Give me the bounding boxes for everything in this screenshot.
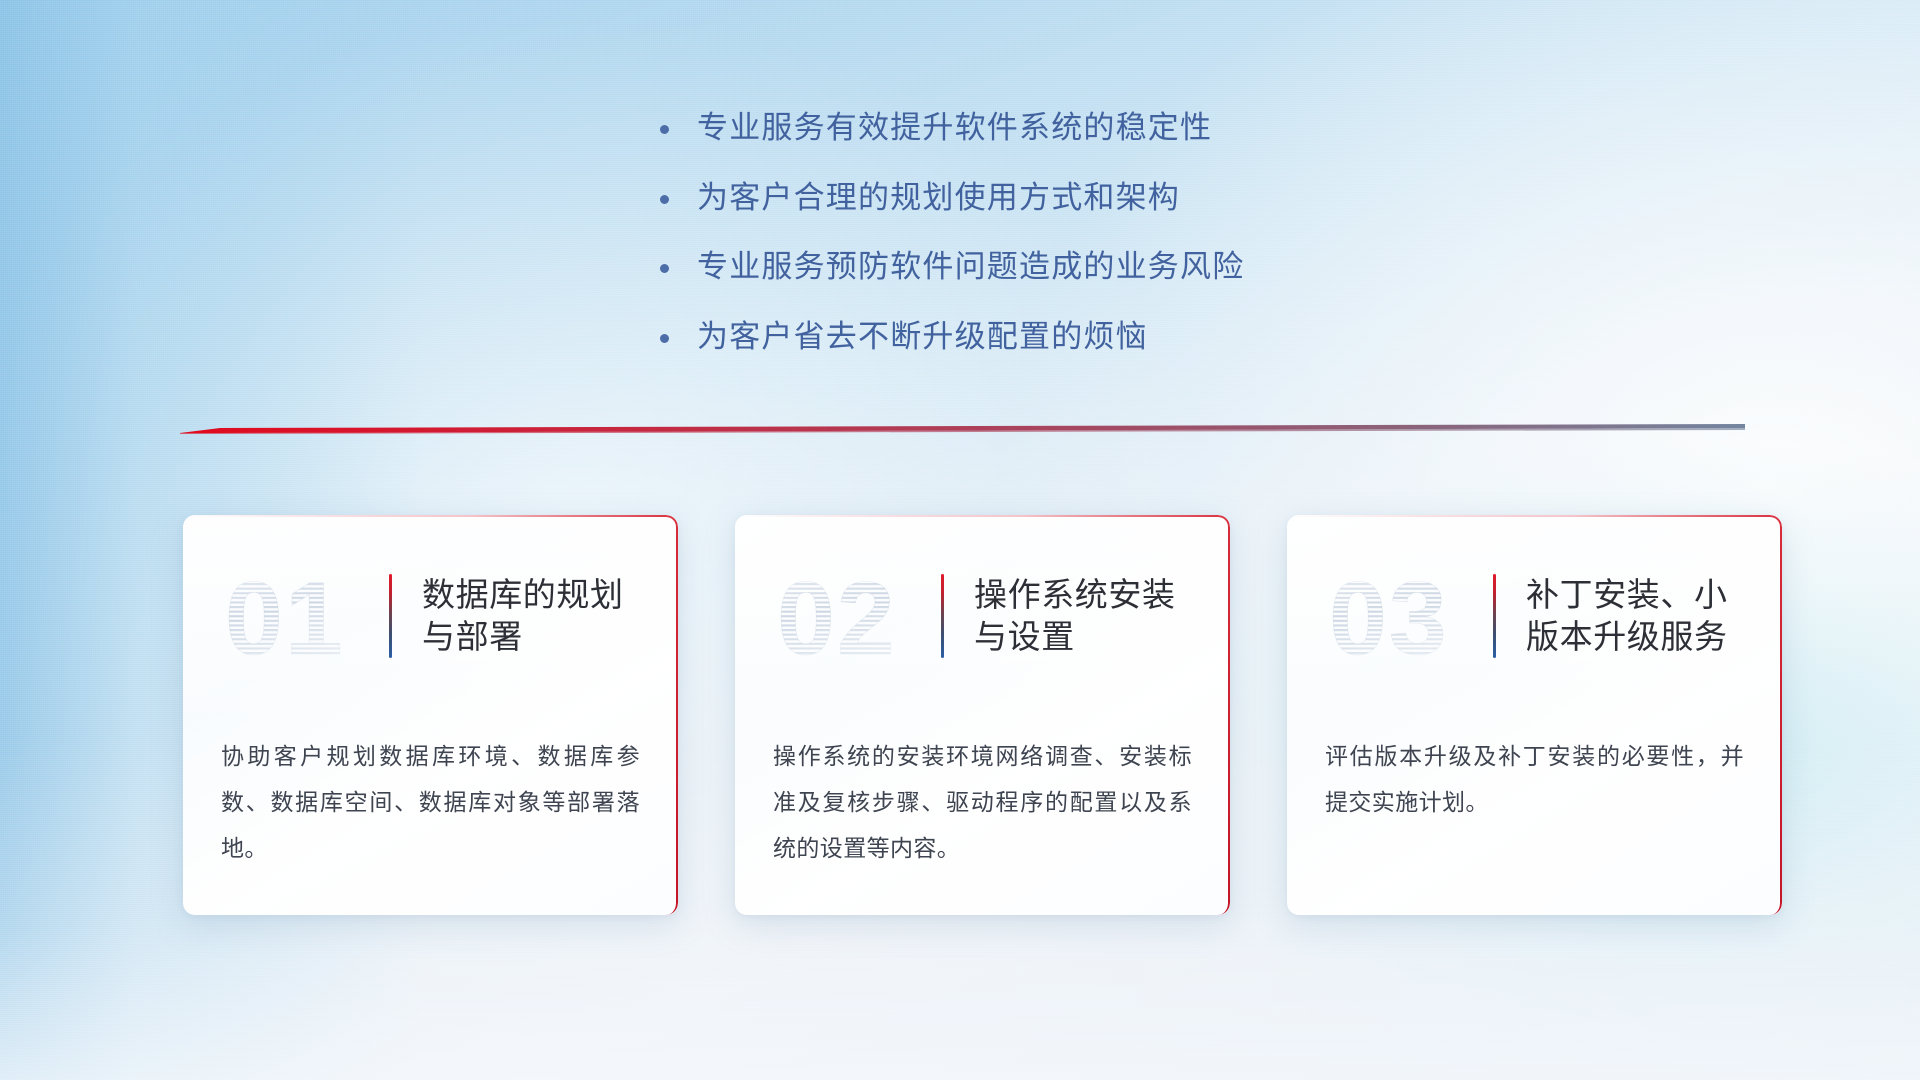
card-header: 02 操作系统安装与设置 [773,557,1192,675]
svg-text:03: 03 [1329,561,1449,672]
benefits-bullet-list: 专业服务有效提升软件系统的稳定性 为客户合理的规划使用方式和架构 专业服务预防软… [660,108,1420,387]
service-card[interactable]: 01 数据库的规划与部署 协助客户规划数据库环境、数据库参数、数据库空间、数据库… [183,515,678,915]
service-cards-row: 01 数据库的规划与部署 协助客户规划数据库环境、数据库参数、数据库空间、数据库… [183,515,1783,915]
card-header: 03 补丁安装、小版本升级服务 [1325,557,1744,675]
red-gradient-divider [180,424,1745,440]
bullet-text: 为客户省去不断升级配置的烦恼 [697,317,1148,357]
card-description: 评估版本升级及补丁安装的必要性，并提交实施计划。 [1325,733,1744,825]
card-description: 协助客户规划数据库环境、数据库参数、数据库空间、数据库对象等部署落地。 [221,733,640,871]
card-header: 01 数据库的规划与部署 [221,557,640,675]
service-card[interactable]: 03 补丁安装、小版本升级服务 评估版本升级及补丁安装的必要性，并提交实施计划。 [1287,515,1782,915]
card-description: 操作系统的安装环境网络调查、安装标准及复核步骤、驱动程序的配置以及系统的设置等内… [773,733,1192,871]
card-title: 补丁安装、小版本升级服务 [1526,574,1744,657]
bullet-dot-icon [660,125,669,134]
card-number-glyph: 02 [773,560,923,672]
card-accent-rule [389,574,392,658]
card-title: 操作系统安装与设置 [974,574,1192,657]
list-item: 为客户合理的规划使用方式和架构 [660,178,1420,218]
bullet-text: 为客户合理的规划使用方式和架构 [697,178,1180,218]
bullet-dot-icon [660,264,669,273]
bullet-dot-icon [660,195,669,204]
card-accent-rule [941,574,944,658]
svg-text:01: 01 [225,561,345,672]
card-number-glyph: 01 [221,560,371,672]
card-number-glyph: 03 [1325,560,1475,672]
list-item: 专业服务有效提升软件系统的稳定性 [660,108,1420,148]
card-title: 数据库的规划与部署 [422,574,640,657]
service-card[interactable]: 02 操作系统安装与设置 操作系统的安装环境网络调查、安装标准及复核步骤、驱动程… [735,515,1230,915]
slide-canvas: 专业服务有效提升软件系统的稳定性 为客户合理的规划使用方式和架构 专业服务预防软… [0,0,1920,1080]
list-item: 为客户省去不断升级配置的烦恼 [660,317,1420,357]
svg-text:02: 02 [777,561,897,672]
card-accent-rule [1493,574,1496,658]
bullet-text: 专业服务有效提升软件系统的稳定性 [697,108,1212,148]
list-item: 专业服务预防软件问题造成的业务风险 [660,247,1420,287]
bullet-text: 专业服务预防软件问题造成的业务风险 [697,247,1244,287]
bullet-dot-icon [660,334,669,343]
